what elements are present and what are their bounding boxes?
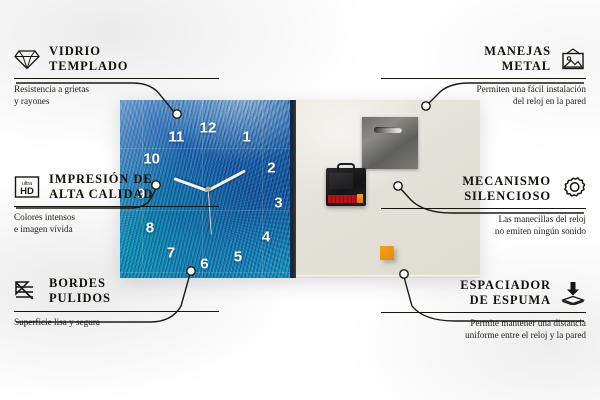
feature-desc-line1: Superficie lisa y segura <box>14 317 100 327</box>
mechanism-red-label <box>328 195 360 203</box>
feature-desc-line2: e imagen vívida <box>14 224 73 234</box>
feature-divider <box>14 311 219 312</box>
feature-description: Resistencia a grietas y rayones <box>14 83 219 107</box>
clock-numeral: 11 <box>168 130 184 145</box>
feature-title: IMPRESIÓN DE ALTA CALIDAD <box>49 172 153 202</box>
svg-text:HD: HD <box>20 186 34 197</box>
feature-title: BORDES PULIDOS <box>49 276 111 306</box>
feature-title-line1: BORDES <box>49 276 106 290</box>
mechanism-panel <box>329 173 353 189</box>
feature-desc-line2: uniforme entre el reloj y la pared <box>465 330 586 340</box>
feature-title-line1: MECANISMO <box>462 174 551 188</box>
ultra-hd-icon: ultra HD <box>14 174 40 200</box>
clock-numeral: 1 <box>243 130 251 145</box>
feature-header: VIDRIO TEMPLADO <box>14 44 219 74</box>
gear-icon <box>560 176 586 202</box>
feature-bordes-pulidos: BORDES PULIDOS Superficie lisa y segura <box>14 276 219 328</box>
feature-desc-line1: Permiten una fácil instalación <box>477 84 586 94</box>
foam-spacer-arrow-icon <box>560 280 586 306</box>
feature-mecanismo-silencioso: MECANISMO SILENCIOSO Las manecillas del … <box>381 174 586 237</box>
feature-vidrio-templado: VIDRIO TEMPLADO Resistencia a grietas y … <box>14 44 219 107</box>
clock-numeral: 7 <box>167 246 175 261</box>
feature-desc-line2: y rayones <box>14 96 49 106</box>
feature-description: Permiten una fácil instalación del reloj… <box>381 83 586 107</box>
feature-header: BORDES PULIDOS <box>14 276 219 306</box>
feature-divider <box>14 206 219 207</box>
feature-desc-line2: del reloj en la pared <box>513 96 586 106</box>
feature-espaciador-espuma: ESPACIADOR DE ESPUMA Permite mantener un… <box>381 278 586 341</box>
feature-desc-line2: no emiten ningún sonido <box>495 226 586 236</box>
feature-title-line2: METAL <box>502 59 551 73</box>
polished-edges-icon <box>14 278 40 304</box>
clock-mechanism-box <box>326 168 366 206</box>
feature-title-line2: PULIDOS <box>49 291 111 305</box>
product-infographic: 12 1 2 3 4 5 6 7 8 9 10 11 <box>0 0 600 400</box>
feature-title-line2: SILENCIOSO <box>464 189 551 203</box>
feature-divider <box>381 208 586 209</box>
feature-header: MANEJAS METAL <box>381 44 586 74</box>
feature-desc-line1: Las manecillas del reloj <box>498 214 586 224</box>
feature-divider <box>381 78 586 79</box>
feature-title-line1: ESPACIADOR <box>460 278 551 292</box>
clock-numeral: 2 <box>267 160 275 175</box>
feature-description: Colores intensos e imagen vívida <box>14 211 219 235</box>
feature-description: Permite mantener una distancia uniforme … <box>381 317 586 341</box>
foam-spacer-pad <box>380 246 394 260</box>
clock-numeral: 5 <box>234 249 242 264</box>
feature-header: MECANISMO SILENCIOSO <box>381 174 586 204</box>
feature-divider <box>14 78 219 79</box>
feature-description: Las manecillas del reloj no emiten ningú… <box>381 213 586 237</box>
feature-title: ESPACIADOR DE ESPUMA <box>460 278 551 308</box>
picture-frame-hanger-icon <box>560 46 586 72</box>
feature-header: ESPACIADOR DE ESPUMA <box>381 278 586 308</box>
feature-title: VIDRIO TEMPLADO <box>49 44 128 74</box>
metal-hanger-plate <box>362 117 418 169</box>
mechanism-yellow-chip <box>357 194 363 203</box>
feature-desc-line1: Colores intensos <box>14 212 75 222</box>
clock-numeral: 12 <box>200 121 217 136</box>
feature-title-line2: TEMPLADO <box>49 59 128 73</box>
clock-numeral: 10 <box>143 151 160 166</box>
clock-numeral: 4 <box>262 230 270 245</box>
feature-divider <box>381 312 586 313</box>
feature-title: MANEJAS METAL <box>484 44 551 74</box>
feature-description: Superficie lisa y segura <box>14 316 219 328</box>
hanger-keyhole-slot <box>374 127 402 133</box>
feature-title-line1: MANEJAS <box>484 44 551 58</box>
feature-title-line2: ALTA CALIDAD <box>49 187 153 201</box>
feature-desc-line1: Resistencia a grietas <box>14 84 89 94</box>
mechanism-hanger-loop <box>337 163 355 171</box>
feature-title: MECANISMO SILENCIOSO <box>462 174 551 204</box>
feature-header: ultra HD IMPRESIÓN DE ALTA CALIDAD <box>14 172 219 202</box>
feature-title-line1: IMPRESIÓN DE <box>49 172 153 186</box>
feature-title-line2: DE ESPUMA <box>470 293 551 307</box>
feature-title-line1: VIDRIO <box>49 44 101 58</box>
clock-numeral: 3 <box>274 196 282 211</box>
feature-impresion-alta-calidad: ultra HD IMPRESIÓN DE ALTA CALIDAD Color… <box>14 172 219 235</box>
clock-numeral: 6 <box>200 256 208 271</box>
feature-desc-line1: Permite mantener una distancia <box>470 318 586 328</box>
diamond-icon <box>14 46 40 72</box>
feature-manejas-metal: MANEJAS METAL Permiten una fácil instala… <box>381 44 586 107</box>
